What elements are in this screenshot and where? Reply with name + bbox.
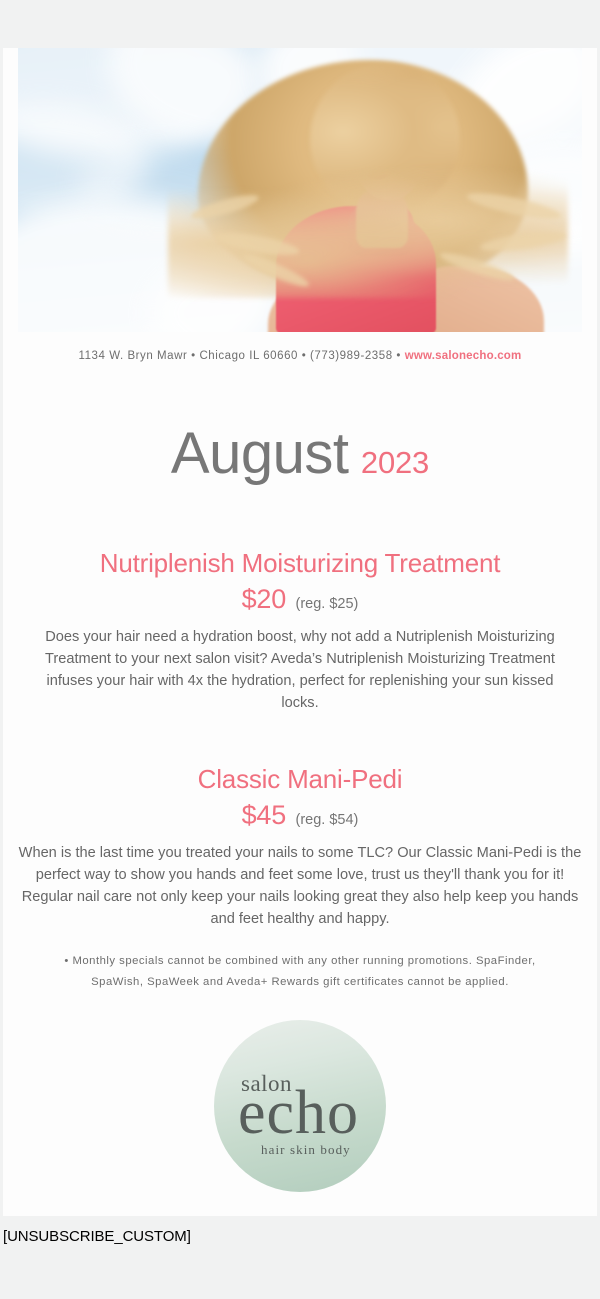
model-figure [18,48,582,332]
month-name: August [171,421,349,486]
contact-street: 1134 W. Bryn Mawr [79,350,188,362]
month-header: August 2023 [3,420,597,487]
offer-regular-price: (reg. $54) [296,812,359,828]
logo-area: salon echo hair skin body [3,1020,597,1192]
logo-tagline: hair skin body [261,1142,351,1158]
offer-price: $20 [242,584,286,614]
unsubscribe-placeholder[interactable]: [UNSUBSCRIBE_CUSTOM] [3,1228,191,1245]
offer-title: Classic Mani-Pedi [3,764,597,795]
fine-print-disclaimer: • Monthly specials cannot be combined wi… [50,951,550,992]
salon-echo-logo: salon echo hair skin body [214,1020,386,1192]
offer-price-line: $20 (reg. $25) [3,584,597,615]
offer-price-line: $45 (reg. $54) [3,800,597,831]
contact-line: 1134 W. Bryn Mawr • Chicago IL 60660 • (… [3,350,597,362]
offer-block: Classic Mani-Pedi $45 (reg. $54) When is… [3,764,597,930]
contact-city-state-zip: Chicago IL 60660 [199,350,298,362]
offer-price: $45 [242,800,286,830]
contact-phone: (773)989-2358 [310,350,393,362]
offer-title: Nutriplenish Moisturizing Treatment [3,548,597,579]
logo-word-echo: echo [238,1082,359,1144]
month-year: 2023 [361,445,429,480]
contact-separator: • [191,350,196,362]
hero-photo [18,48,582,332]
website-link[interactable]: www.salonecho.com [405,350,522,362]
offer-block: Nutriplenish Moisturizing Treatment $20 … [3,548,597,714]
offer-description: Does your hair need a hydration boost, w… [26,626,574,715]
offer-description: When is the last time you treated your n… [15,842,585,931]
email-content-area: 1134 W. Bryn Mawr • Chicago IL 60660 • (… [3,48,597,1216]
offer-regular-price: (reg. $25) [296,596,359,612]
email-newsletter: 1134 W. Bryn Mawr • Chicago IL 60660 • (… [0,0,600,1216]
contact-separator: • [396,350,401,362]
contact-separator: • [302,350,307,362]
